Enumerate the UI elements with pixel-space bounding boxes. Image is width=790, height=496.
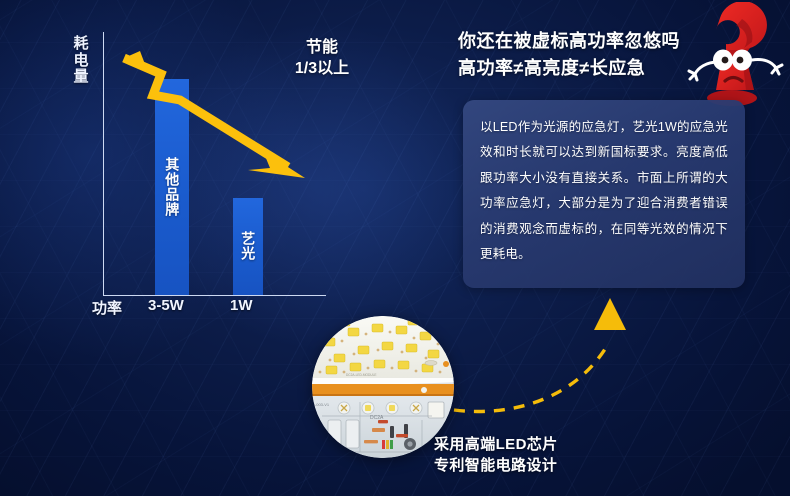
- promo-banner: 耗电量 其他品牌 艺光 功率 3-5W 1W 节能 1/3以上 你还在被虚标高功…: [0, 0, 790, 496]
- chart-x-axis-title: 功率: [92, 297, 122, 318]
- svg-text:DC2A-LED-MODULE: DC2A-LED-MODULE: [346, 373, 376, 377]
- headline-line-1: 你还在被虚标高功率忽悠吗: [458, 28, 680, 55]
- headline-line-2: 高功率≠高亮度≠长应急: [458, 55, 680, 82]
- led-pcb-board-photo: DC2A-LED-MODULE: [312, 316, 454, 458]
- pcb-caption-line-2: 专利智能电路设计: [434, 455, 558, 476]
- chart-tick-1w: 1W: [230, 297, 253, 314]
- info-card-body: 以LED作为光源的应急灯，艺光1W的应急光效和时长就可以达到新国标要求。亮度高低…: [480, 115, 728, 267]
- down-trend-zigzag-arrow-icon: [120, 48, 330, 198]
- svg-text:P6-003-V1: P6-003-V1: [312, 402, 330, 407]
- chart-bar-yiguang: 艺光: [233, 198, 263, 295]
- chart-bar-label-yiguang: 艺光: [240, 231, 257, 261]
- question-mark-character-icon: [676, 2, 788, 110]
- pcb-caption-line-1: 采用高端LED芯片: [434, 434, 558, 455]
- pcb-caption: 采用高端LED芯片 专利智能电路设计: [434, 434, 558, 477]
- info-card: 以LED作为光源的应急灯，艺光1W的应急光效和时长就可以达到新国标要求。亮度高低…: [463, 100, 745, 288]
- energy-comparison-chart: 耗电量 其他品牌 艺光 功率 3-5W 1W 节能 1/3以上: [0, 0, 430, 330]
- dashed-curved-arrow-icon: [430, 290, 645, 430]
- chart-x-axis-line: [103, 295, 326, 296]
- chart-tick-3-5w: 3-5W: [148, 297, 184, 314]
- headline-block: 你还在被虚标高功率忽悠吗 高功率≠高亮度≠长应急: [458, 28, 680, 83]
- chart-y-axis-label: 耗电量: [70, 36, 92, 86]
- svg-text:DC2A: DC2A: [370, 415, 384, 421]
